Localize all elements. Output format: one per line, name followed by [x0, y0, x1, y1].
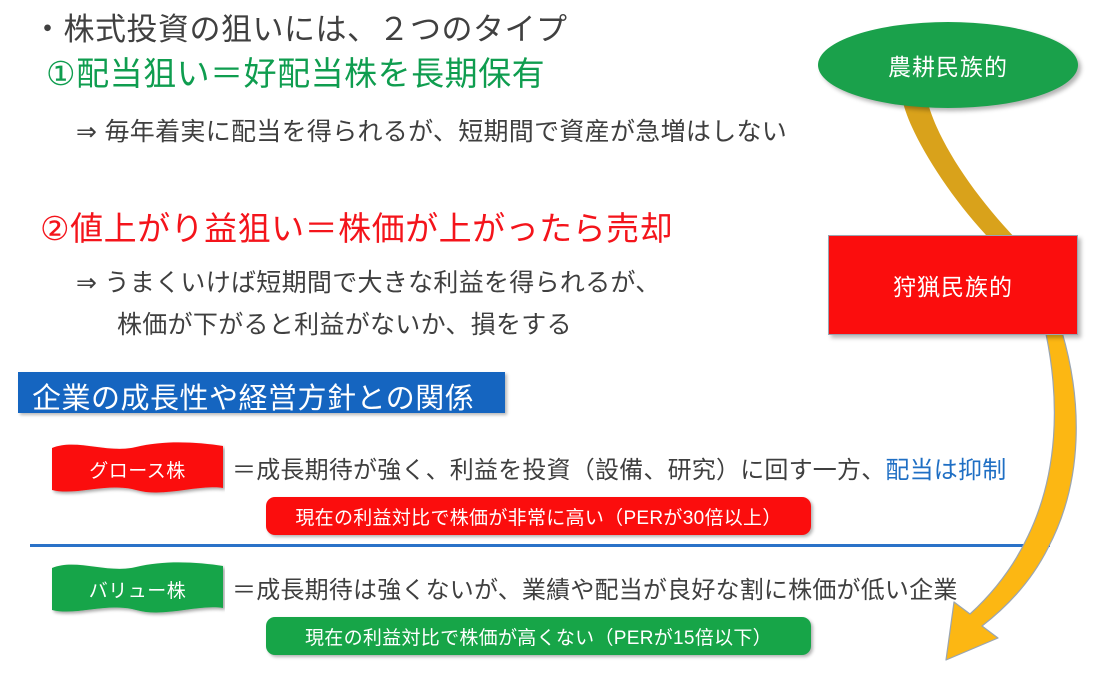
section-divider	[30, 544, 1050, 547]
callout-hunting-label: 狩猟民族的	[893, 268, 1013, 302]
slide-canvas: ・株式投資の狙いには、２つのタイプ ①配当狙い＝好配当株を長期保有 ⇒ 毎年着実…	[0, 0, 1104, 680]
callout-hunting: 狩猟民族的	[828, 235, 1078, 335]
flag-growth-stock-label: グロース株	[50, 440, 225, 498]
item-2-subtext-line-1: ⇒ うまくいけば短期間で大きな利益を得られるが、	[76, 270, 661, 296]
callout-agricultural: 農耕民族的	[818, 22, 1078, 108]
callout-agricultural-label: 農耕民族的	[888, 48, 1008, 82]
section-banner-label: 企業の成長性や経営方針との関係	[32, 375, 474, 417]
gold-connector-tail-icon	[900, 95, 1030, 245]
value-stock-per-note: 現在の利益対比で株価が高くない（PERが15倍以下）	[266, 617, 811, 655]
item-2-heading: ②値上がり益狙い＝株価が上がったら売却	[40, 212, 673, 247]
item-1-subtext: ⇒ 毎年着実に配当を得られるが、短期間で資産が急増はしない	[76, 119, 787, 145]
growth-stock-description-main: ＝成長期待が強く、利益を投資（設備、研究）に回す一方、	[232, 457, 885, 484]
value-stock-description-main: ＝成長期待は強くないが、業績や配当が良好な割に株価が低い企業	[232, 577, 958, 604]
item-1-heading: ①配当狙い＝好配当株を長期保有	[46, 57, 545, 92]
growth-stock-description: ＝成長期待が強く、利益を投資（設備、研究）に回す一方、配当は抑制	[232, 450, 1006, 485]
flag-value-stock: バリュー株	[50, 560, 225, 618]
item-2-subtext-line-2: 株価が下がると利益がないか、損をする	[117, 312, 572, 338]
flag-growth-stock: グロース株	[50, 440, 225, 498]
flag-value-stock-label: バリュー株	[50, 560, 225, 618]
curved-down-left-arrow-icon	[940, 330, 1104, 670]
growth-stock-per-note-label: 現在の利益対比で株価が非常に高い（PERが30倍以上）	[295, 503, 781, 530]
section-banner: 企業の成長性や経営方針との関係	[18, 372, 505, 413]
slide-bullet-heading: ・株式投資の狙いには、２つのタイプ	[32, 14, 568, 47]
growth-stock-per-note: 現在の利益対比で株価が非常に高い（PERが30倍以上）	[266, 497, 811, 535]
value-stock-per-note-label: 現在の利益対比で株価が高くない（PERが15倍以下）	[305, 623, 772, 650]
value-stock-description: ＝成長期待は強くないが、業績や配当が良好な割に株価が低い企業	[232, 570, 958, 605]
